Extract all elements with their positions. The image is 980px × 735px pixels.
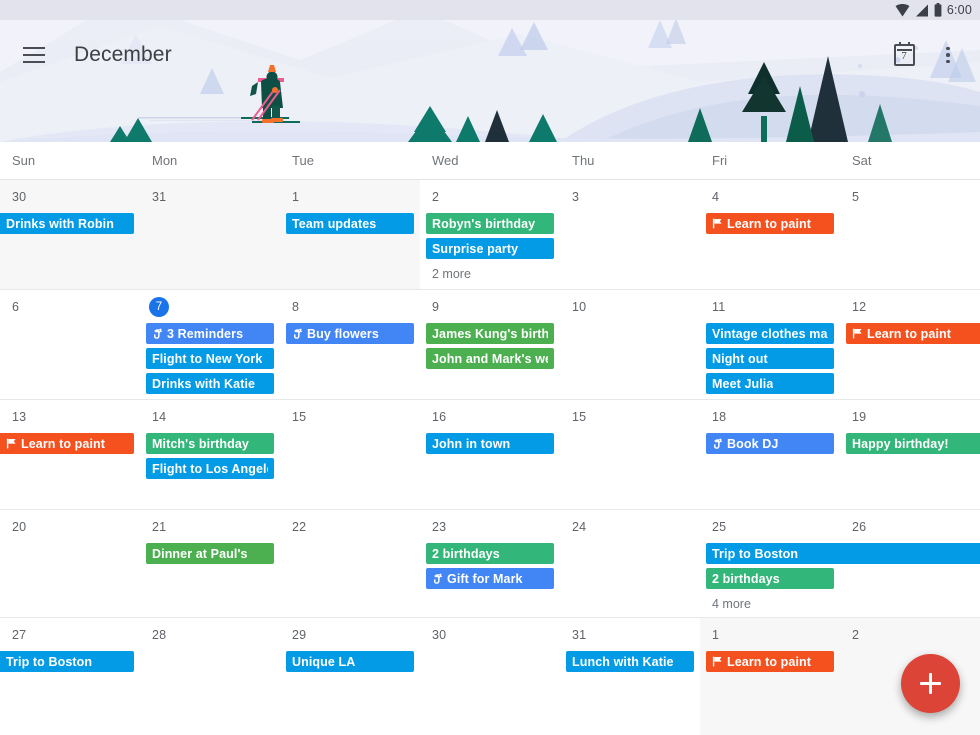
month-grid: 303112345Drinks with RobinTeam updatesRo… [0, 180, 980, 735]
event-title: Trip to Boston [6, 655, 92, 669]
event-title: Learn to paint [727, 217, 811, 231]
week-row: 13141516151819Learn to paintMitch's birt… [0, 400, 980, 510]
weekday-thu: Thu [560, 142, 700, 179]
battery-icon [934, 3, 942, 17]
calendar-event[interactable]: Dinner at Paul's [146, 543, 274, 564]
event-title: Robyn's birthday [432, 217, 535, 231]
calendar-event[interactable]: Learn to paint [706, 213, 834, 234]
calendar-event[interactable]: Night out [706, 348, 834, 369]
calendar-event[interactable]: 2 birthdays [426, 543, 554, 564]
event-title: Vintage clothes ma [712, 327, 828, 341]
event-title: Learn to paint [727, 655, 811, 669]
event-title: Dinner at Paul's [152, 547, 248, 561]
week-row: 67891011123 RemindersFlight to New YorkD… [0, 290, 980, 400]
event-title: Buy flowers [307, 327, 379, 341]
flag-icon [712, 218, 723, 229]
status-clock: 6:00 [947, 3, 972, 17]
weekday-sat: Sat [840, 142, 980, 179]
event-title: John and Mark's we [432, 352, 548, 366]
event-title: Surprise party [432, 242, 518, 256]
weekday-tue: Tue [280, 142, 420, 179]
calendar-event[interactable]: Unique LA [286, 651, 414, 672]
event-layer: 3 RemindersFlight to New YorkDrinks with… [0, 290, 980, 399]
flag-icon [712, 656, 723, 667]
app-bar: December 7 [0, 20, 980, 90]
event-title: Happy birthday! [852, 437, 949, 451]
hamburger-menu-icon[interactable] [12, 33, 56, 77]
calendar-event[interactable]: Trip to Boston [0, 651, 134, 672]
calendar-event[interactable]: Trip to Boston [706, 543, 980, 564]
event-title: Flight to New York [152, 352, 262, 366]
create-event-button[interactable] [901, 654, 960, 713]
event-layer: Dinner at Paul's2 birthdaysGift for Mark… [0, 510, 980, 617]
event-title: 2 birthdays [712, 572, 780, 586]
event-layer: Drinks with RobinTeam updatesRobyn's bir… [0, 180, 980, 289]
status-bar: 6:00 [0, 0, 980, 20]
weekday-fri: Fri [700, 142, 840, 179]
reminder-finger-icon [432, 573, 443, 585]
event-title: 3 Reminders [167, 327, 243, 341]
event-title: Gift for Mark [447, 572, 523, 586]
event-title: Trip to Boston [712, 547, 798, 561]
event-title: Drinks with Katie [152, 377, 255, 391]
more-events-link[interactable]: 2 more [426, 265, 471, 283]
calendar-event[interactable]: Learn to paint [846, 323, 980, 344]
calendar-event[interactable]: Buy flowers [286, 323, 414, 344]
calendar-today-icon: 7 [894, 44, 915, 66]
event-title: Learn to paint [867, 327, 951, 341]
calendar-event[interactable]: Surprise party [426, 238, 554, 259]
overflow-menu-button[interactable] [928, 33, 968, 77]
more-vert-icon [946, 47, 950, 64]
calendar-event[interactable]: Mitch's birthday [146, 433, 274, 454]
more-events-link[interactable]: 4 more [706, 595, 751, 613]
week-row: 303112345Drinks with RobinTeam updatesRo… [0, 180, 980, 290]
calendar-event[interactable]: Lunch with Katie [566, 651, 694, 672]
week-row: 20212223242526Dinner at Paul's2 birthday… [0, 510, 980, 618]
weekday-sun: Sun [0, 142, 140, 179]
calendar-event[interactable]: John and Mark's we [426, 348, 554, 369]
event-title: Drinks with Robin [6, 217, 114, 231]
calendar-event[interactable]: John in town [426, 433, 554, 454]
event-title: Lunch with Katie [572, 655, 674, 669]
event-title: Book DJ [727, 437, 778, 451]
calendar-event[interactable]: Drinks with Robin [0, 213, 134, 234]
event-title: Night out [712, 352, 768, 366]
calendar-event[interactable]: Flight to New York [146, 348, 274, 369]
page-title: December [74, 43, 172, 67]
reminder-finger-icon [152, 328, 163, 340]
event-title: Flight to Los Angele [152, 462, 268, 476]
calendar-event[interactable]: 3 Reminders [146, 323, 274, 344]
calendar-event[interactable]: Flight to Los Angele [146, 458, 274, 479]
event-title: Meet Julia [712, 377, 773, 391]
event-title: John in town [432, 437, 510, 451]
calendar-event[interactable]: Learn to paint [0, 433, 134, 454]
reminder-finger-icon [292, 328, 303, 340]
calendar-event[interactable]: Robyn's birthday [426, 213, 554, 234]
calendar-event[interactable]: Meet Julia [706, 373, 834, 394]
weekday-header: Sun Mon Tue Wed Thu Fri Sat [0, 142, 980, 180]
event-title: Team updates [292, 217, 376, 231]
calendar-event[interactable]: Learn to paint [706, 651, 834, 672]
calendar-event[interactable]: 2 birthdays [706, 568, 834, 589]
event-title: 2 birthdays [432, 547, 500, 561]
calendar-event[interactable]: Vintage clothes ma [706, 323, 834, 344]
event-title: Unique LA [292, 655, 355, 669]
weekday-wed: Wed [420, 142, 560, 179]
app-bar-actions: 7 [884, 33, 968, 77]
calendar-event[interactable]: Happy birthday! [846, 433, 980, 454]
calendar-event[interactable]: Book DJ [706, 433, 834, 454]
reminder-finger-icon [712, 438, 723, 450]
event-layer: Trip to BostonUnique LALunch with KatieL… [0, 618, 980, 735]
flag-icon [852, 328, 863, 339]
week-row: 272829303112Trip to BostonUnique LALunch… [0, 618, 980, 735]
signal-icon [915, 4, 929, 17]
event-layer: Learn to paintMitch's birthdayFlight to … [0, 400, 980, 509]
wifi-icon [895, 4, 910, 17]
event-title: James Kung's birth [432, 327, 548, 341]
calendar-event[interactable]: Drinks with Katie [146, 373, 274, 394]
calendar-event[interactable]: James Kung's birth [426, 323, 554, 344]
calendar-event[interactable]: Gift for Mark [426, 568, 554, 589]
today-icon-day: 7 [901, 50, 907, 64]
calendar-event[interactable]: Team updates [286, 213, 414, 234]
header-illustration-banner: December 7 [0, 20, 980, 142]
flag-icon [6, 438, 17, 449]
event-title: Mitch's birthday [152, 437, 249, 451]
event-title: Learn to paint [21, 437, 105, 451]
today-button[interactable]: 7 [884, 33, 924, 77]
weekday-mon: Mon [140, 142, 280, 179]
